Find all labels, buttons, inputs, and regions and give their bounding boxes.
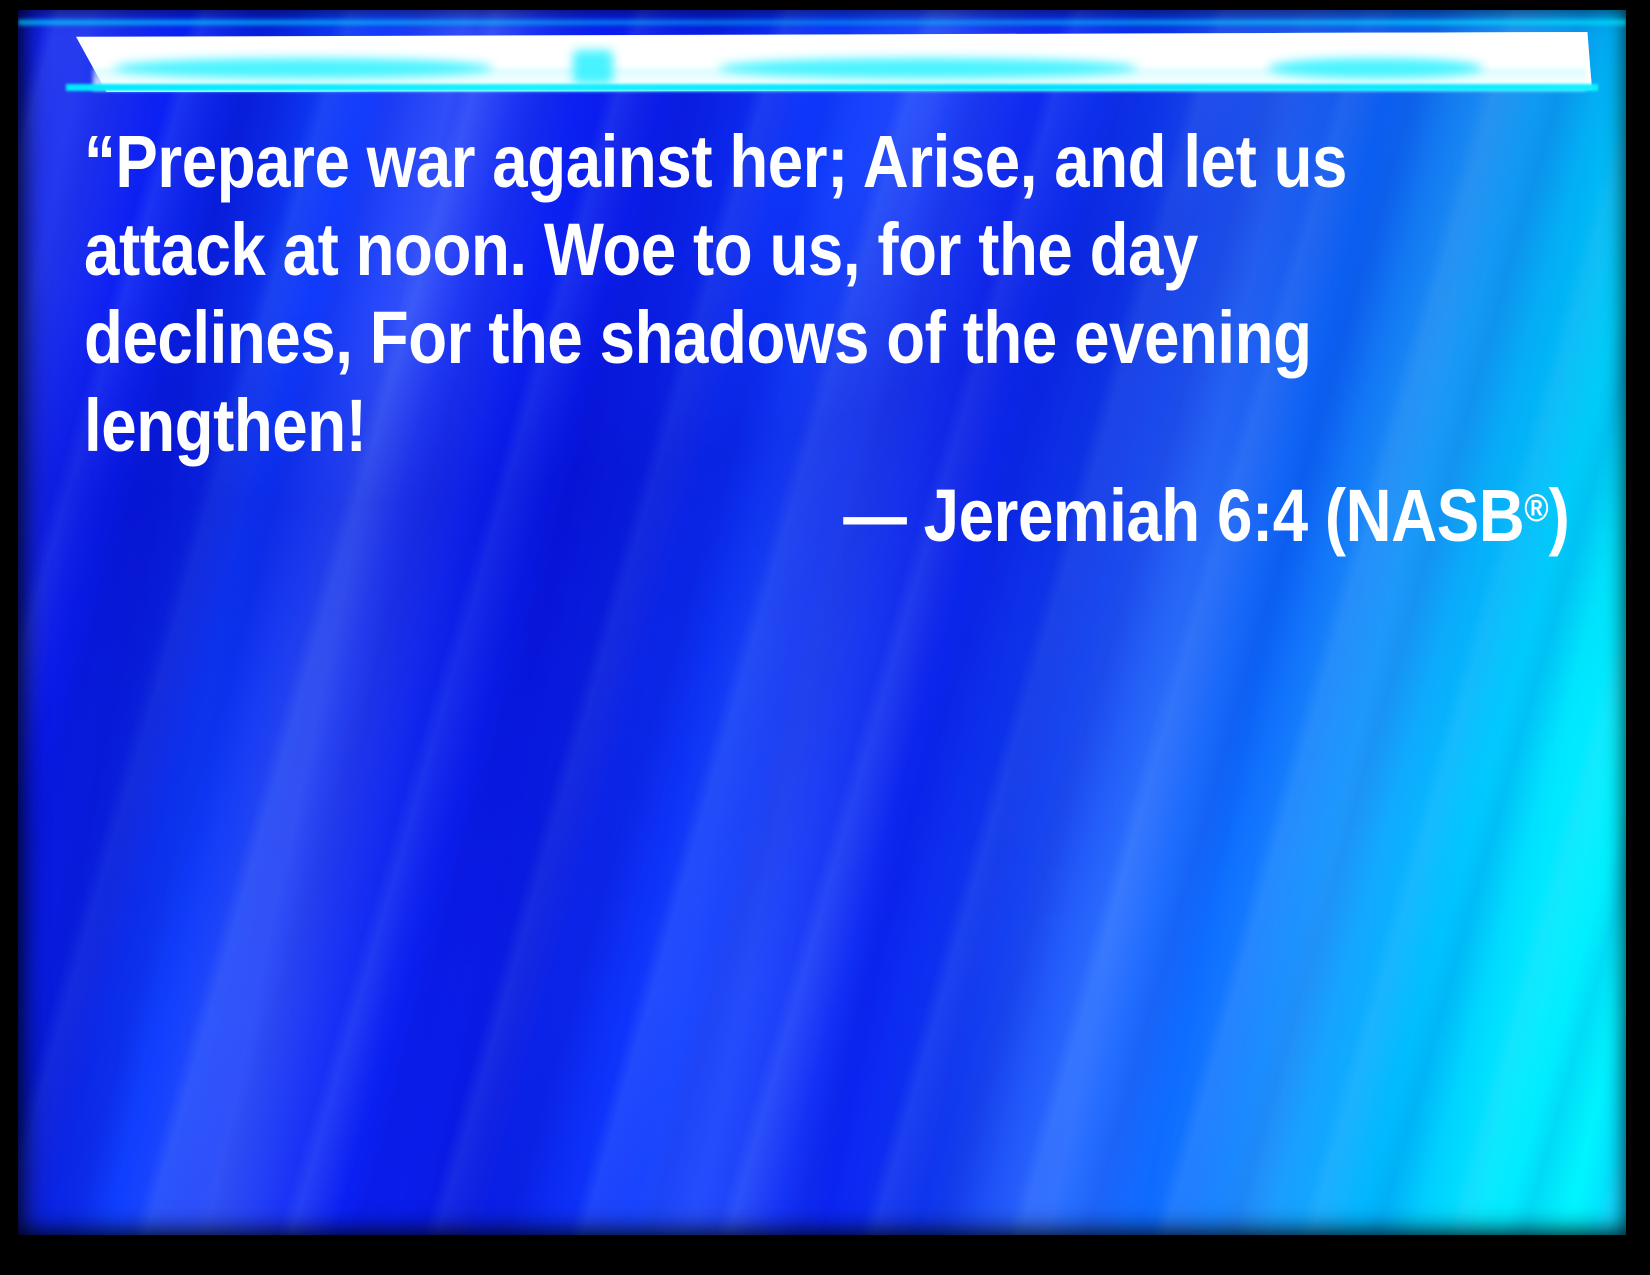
slide-root: “Prepare war against her; Arise, and let… bbox=[0, 0, 1650, 1275]
top-glow-blob-2 bbox=[573, 50, 613, 84]
registered-trademark-icon: ® bbox=[1524, 487, 1548, 530]
top-glow-blob-4 bbox=[1268, 58, 1483, 78]
top-glow-blob-3 bbox=[718, 58, 1138, 78]
top-cyan-underline bbox=[66, 84, 1598, 91]
top-glow-blob-1 bbox=[113, 58, 493, 78]
top-hairline-accent bbox=[18, 20, 1626, 25]
verse-text-block: “Prepare war against her; Arise, and let… bbox=[84, 118, 1559, 470]
attribution-inner: — Jeremiah 6:4 (NASB®) bbox=[843, 465, 1569, 560]
verse-attribution: — Jeremiah 6:4 (NASB®) bbox=[84, 465, 1569, 560]
verse-line-4: lengthen! bbox=[84, 382, 1353, 470]
verse-line-1: “Prepare war against her; Arise, and let… bbox=[84, 118, 1353, 206]
verse-line-3: declines, For the shadows of the evening bbox=[84, 294, 1353, 382]
top-glow-banner bbox=[18, 10, 1626, 96]
verse-line-2: attack at noon. Woe to us, for the day bbox=[84, 206, 1353, 294]
attribution-prefix: — Jeremiah 6:4 (NASB bbox=[843, 474, 1524, 557]
attribution-suffix: ) bbox=[1548, 474, 1569, 557]
slide-canvas: “Prepare war against her; Arise, and let… bbox=[18, 10, 1626, 1235]
